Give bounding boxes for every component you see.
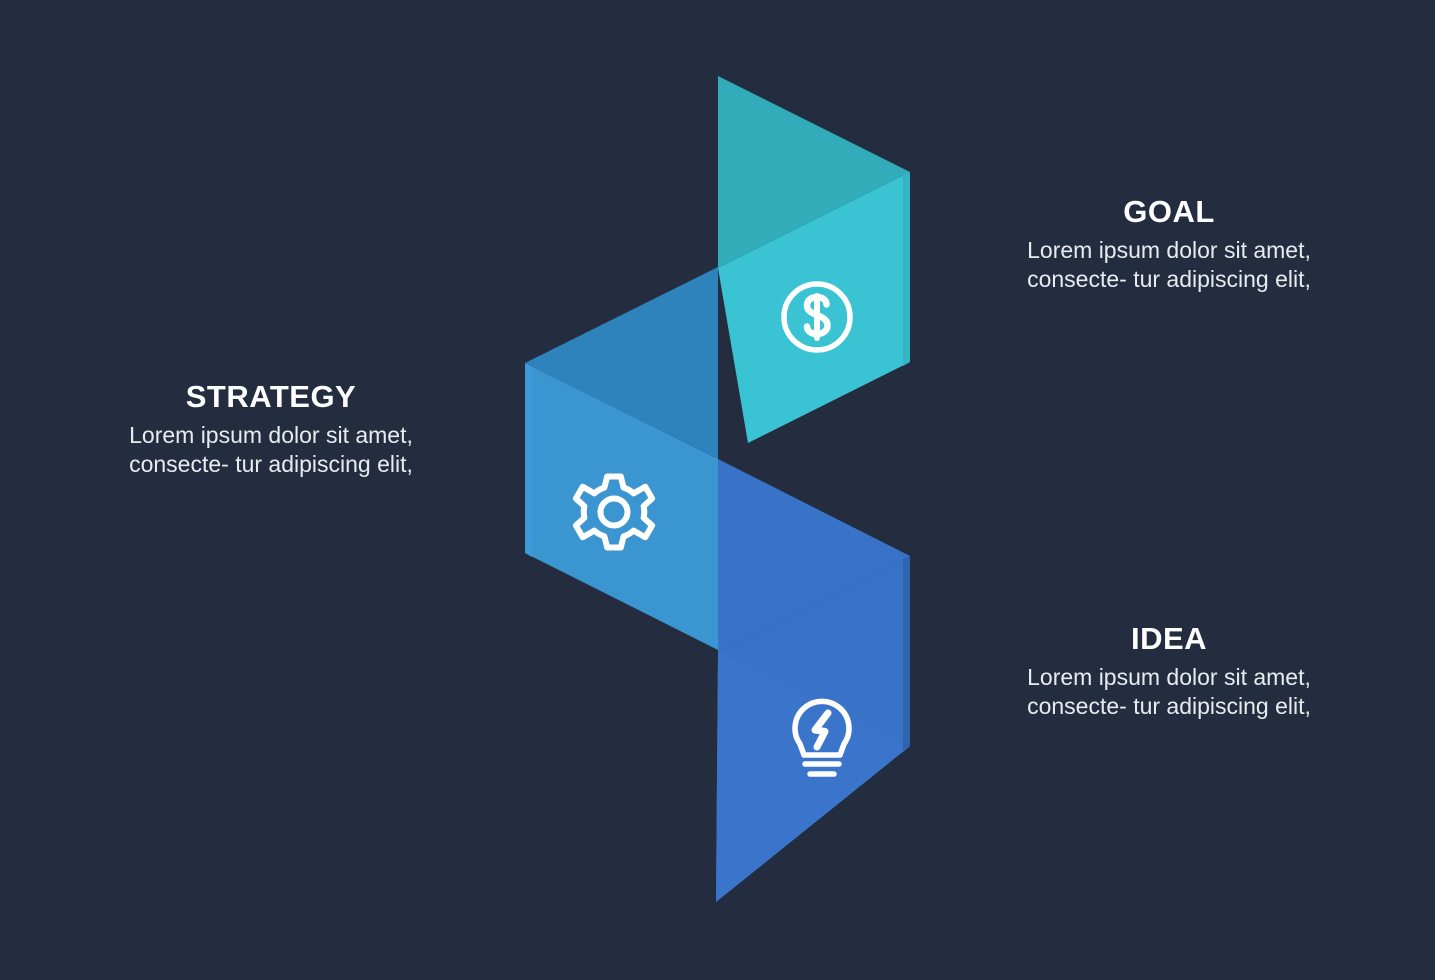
ribbon-goal-edge-strip bbox=[903, 172, 910, 366]
idea-description: Lorem ipsum dolor sit amet, consecte- tu… bbox=[1019, 663, 1319, 722]
idea-title: IDEA bbox=[1019, 623, 1319, 656]
goal-title: GOAL bbox=[1019, 196, 1319, 229]
ribbon-idea-edge-strip bbox=[903, 556, 910, 750]
strategy-title: STRATEGY bbox=[121, 381, 421, 414]
text-block-strategy: STRATEGY Lorem ipsum dolor sit amet, con… bbox=[121, 381, 421, 479]
goal-description: Lorem ipsum dolor sit amet, consecte- tu… bbox=[1019, 236, 1319, 295]
strategy-description: Lorem ipsum dolor sit amet, consecte- tu… bbox=[121, 421, 421, 480]
ribbon-segment-idea[interactable] bbox=[716, 459, 910, 902]
infographic-canvas: GOAL Lorem ipsum dolor sit amet, consect… bbox=[0, 0, 1435, 980]
ribbon-segment-goal[interactable] bbox=[718, 76, 910, 443]
zigzag-ribbon-diagram bbox=[0, 0, 1435, 980]
text-block-goal: GOAL Lorem ipsum dolor sit amet, consect… bbox=[1019, 196, 1319, 294]
text-block-idea: IDEA Lorem ipsum dolor sit amet, consect… bbox=[1019, 623, 1319, 721]
ribbon-segment-strategy[interactable] bbox=[525, 267, 718, 650]
ribbon-strategy-edge-strip bbox=[525, 363, 532, 557]
